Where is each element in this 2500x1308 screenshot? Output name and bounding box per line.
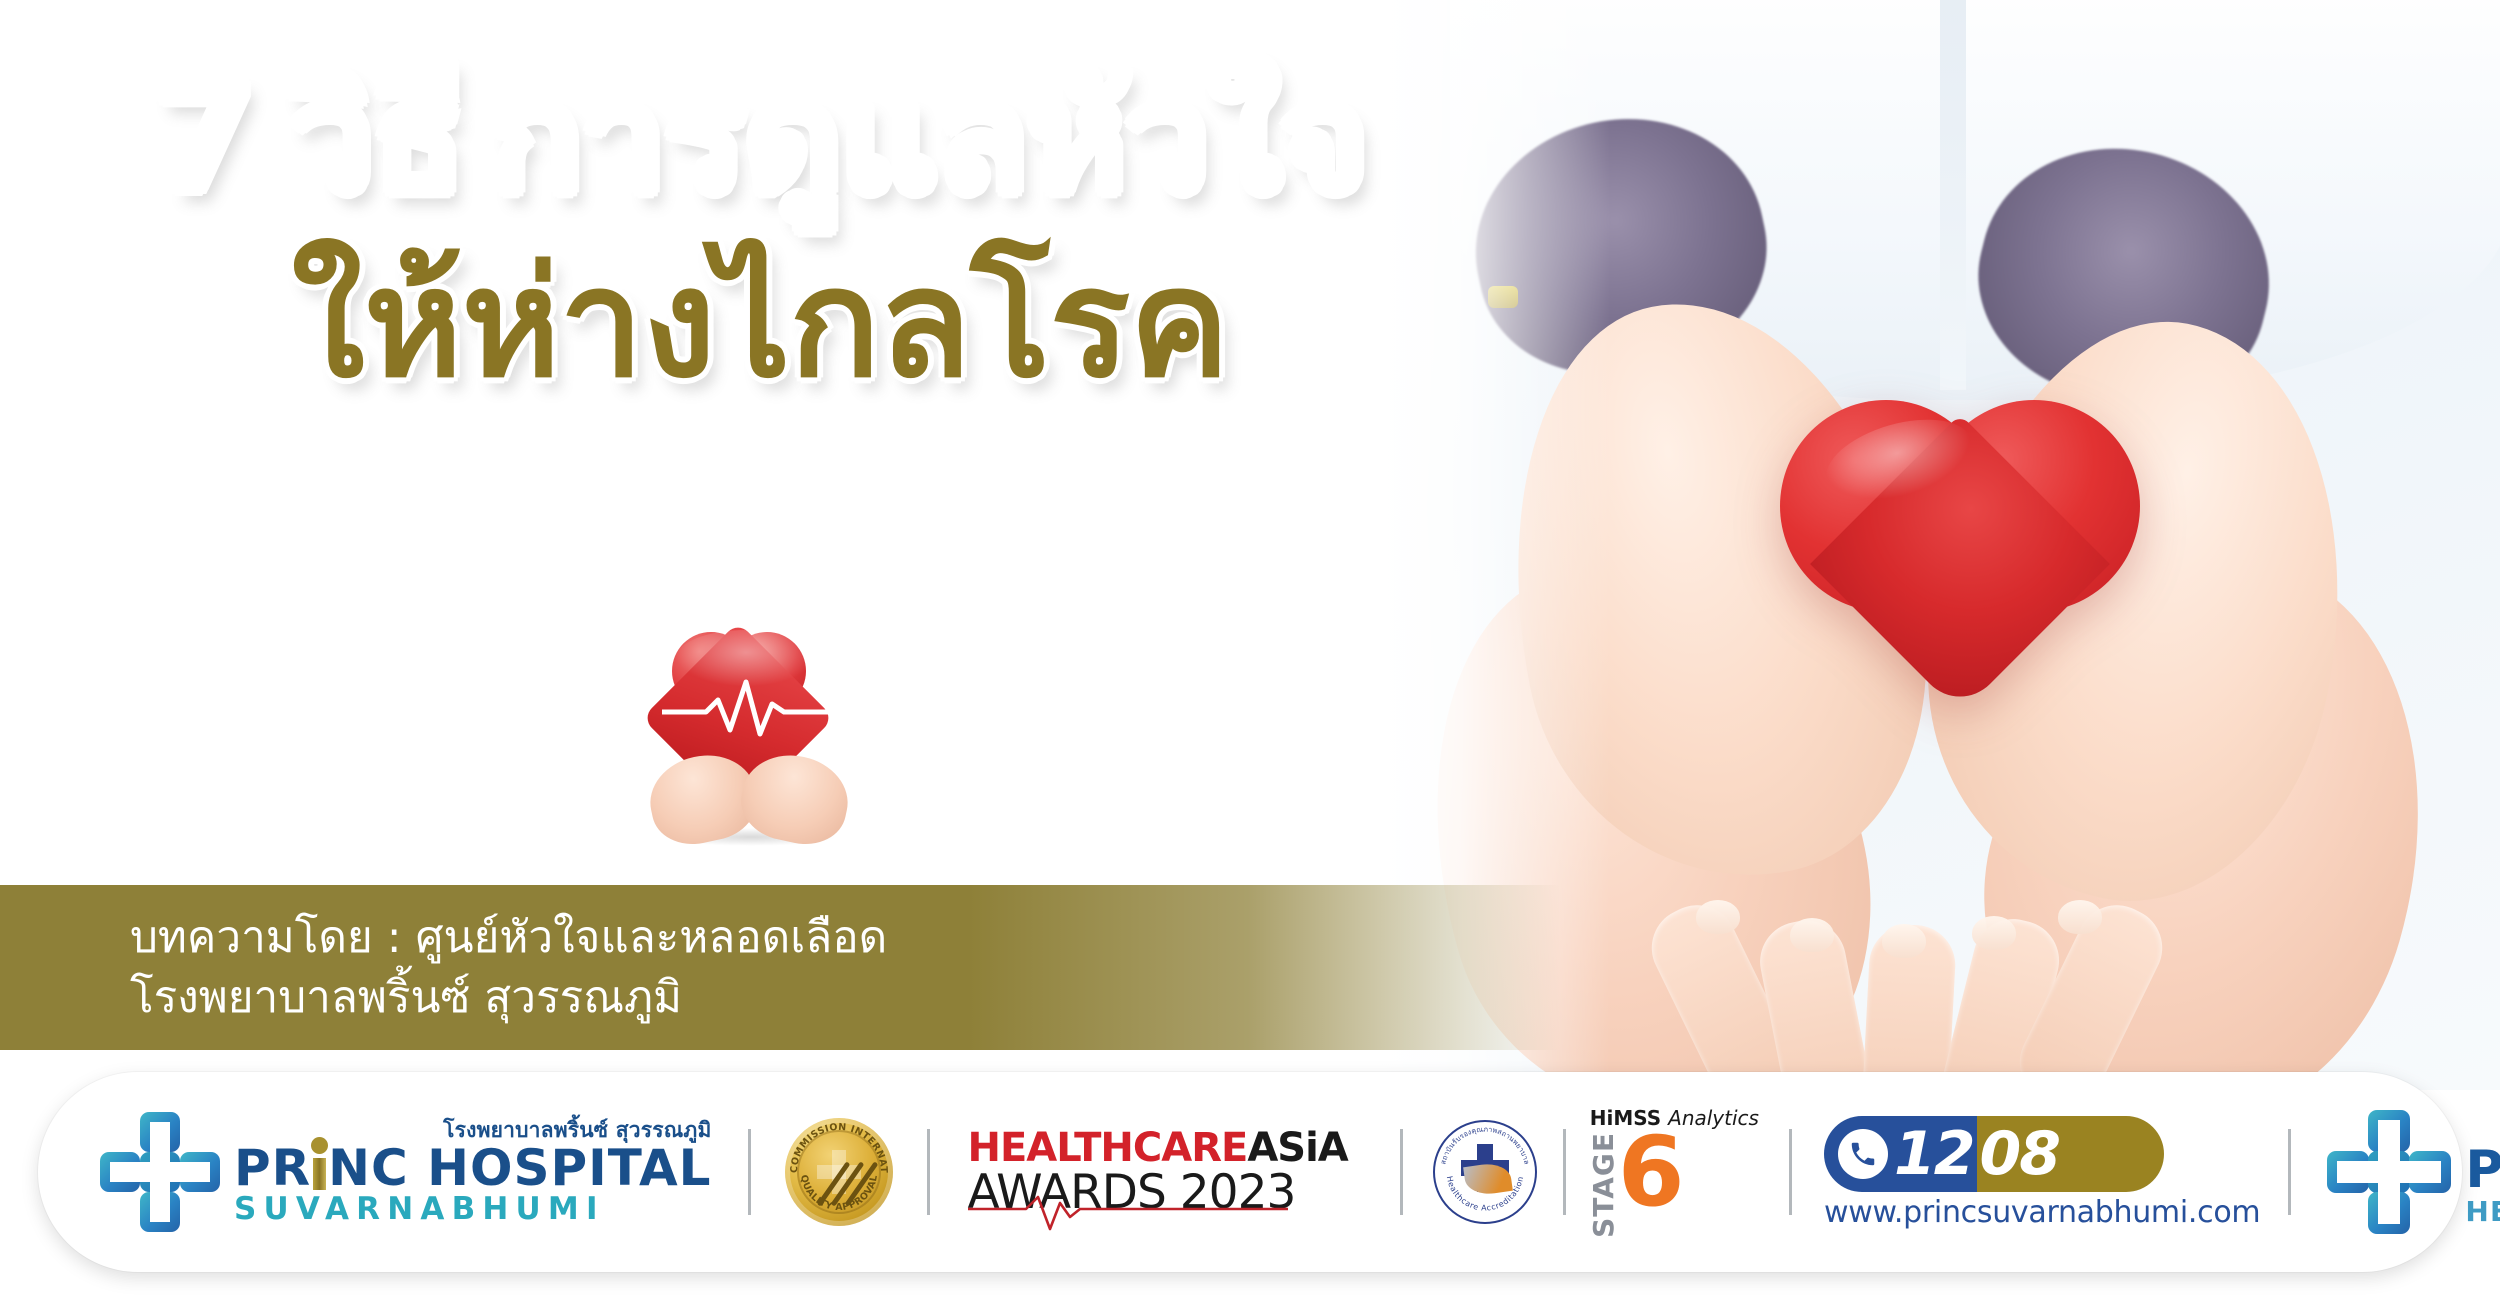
svg-text:Healthcare Accreditation: Healthcare Accreditation — [1444, 1175, 1525, 1212]
footer-logo-bar: โรงพยาบาลพริ้นซ์ สุวรรณภูมิ PRNC HOSPITA… — [38, 1072, 2462, 1272]
hotline-badge[interactable]: 12 08 www.princsuvarnabhumi.com — [1824, 1072, 2260, 1272]
icon-hands — [650, 750, 850, 850]
svg-text:QUALITY APPROVAL: QUALITY APPROVAL — [797, 1174, 879, 1213]
hospital-website-url[interactable]: www.princsuvarnabhumi.com — [1824, 1198, 2260, 1228]
jci-accreditation-seal[interactable]: JOINT COMMISSION INTERNATIONAL QUALITY A… — [785, 1072, 893, 1272]
princ-thai-name: โรงพยาบาลพริ้นซ์ สุวรรณภูมิ — [234, 1120, 712, 1141]
byline-line-2: โรงพยาบาลพริ้นซ์ สุวรรณภูมิ — [130, 968, 1560, 1028]
hotline-right-segment: 08 — [1977, 1116, 2164, 1192]
footer-divider — [927, 1129, 930, 1215]
red-heart-object — [1780, 400, 2140, 730]
coat-seam — [1940, 0, 1966, 390]
fingernail — [1882, 924, 1926, 958]
principal-main-name: PRNCIPAL — [2465, 1144, 2500, 1196]
phone-icon — [1838, 1129, 1888, 1179]
headline-subtitle: ให้ห่างไกลโรค — [291, 237, 1228, 411]
fingernail — [1790, 918, 1834, 952]
healthcare-asia-awards-logo[interactable]: HEALTHCAREASiA AWARDS 2023 — [968, 1072, 1348, 1272]
footer-divider — [2288, 1129, 2291, 1215]
footer-divider — [1400, 1129, 1403, 1215]
himss-stage6-logo[interactable]: HiMSS Analytics STAGE 6 — [1590, 1072, 1759, 1272]
himss-stage-label: STAGE — [1590, 1132, 1618, 1238]
headline-line-1: 7วิธีการดูแลหัวใจ — [0, 60, 1520, 219]
haa-ekg-icon — [968, 1195, 1288, 1235]
hotline-pill: 12 08 www.princsuvarnabhumi.com — [1824, 1116, 2260, 1228]
health-article-banner: 7วิธีการดูแลหัวใจ ให้ห่างไกลโรค บทความโด… — [0, 0, 2500, 1308]
svg-text:JOINT COMMISSION INTERNATIONAL: JOINT COMMISSION INTERNATIONAL — [785, 1118, 889, 1174]
svg-text:สถาบันรับรองคุณภาพสถานพยาบาล: สถาบันรับรองคุณภาพสถานพยาบาล — [1438, 1125, 1531, 1166]
principal-cross-icon — [2327, 1110, 2451, 1234]
principal-thai-name: พริ้นซิเพิล เฮลท์แคร์ — [2465, 1119, 2500, 1141]
hands-holding-heart-icon — [620, 600, 880, 850]
footer-divider — [748, 1129, 751, 1215]
jci-gold-medal-icon: JOINT COMMISSION INTERNATIONAL QUALITY A… — [785, 1118, 893, 1226]
principal-sub-name: HEALTHCARE COMPANY — [2465, 1198, 2500, 1226]
fingernail — [1696, 900, 1740, 934]
princ-cross-icon — [100, 1112, 220, 1232]
byline-bar: บทความโดย : ศูนย์หัวใจและหลอดเลือด โรงพย… — [0, 885, 1560, 1050]
hotline-number-right: 08 — [1979, 1124, 2059, 1184]
princ-i-pillar-icon — [311, 1150, 328, 1190]
hotline-left-segment: 12 — [1824, 1116, 1978, 1192]
himss-stage-row: STAGE 6 — [1590, 1132, 1685, 1238]
footer-divider — [1563, 1129, 1566, 1215]
ekg-line-icon — [662, 678, 838, 742]
footer-divider — [1789, 1129, 1792, 1215]
ha-ring-text: สถาบันรับรองคุณภาพสถานพยาบาล Healthcare … — [1435, 1122, 1535, 1222]
princ-sub-name: SUVARNABHUMI — [234, 1194, 712, 1225]
ha-accreditation-logo[interactable]: สถาบันรับรองคุณภาพสถานพยาบาล Healthcare … — [1433, 1072, 1537, 1272]
fingernail — [2058, 900, 2102, 934]
jci-ring-text: JOINT COMMISSION INTERNATIONAL QUALITY A… — [785, 1118, 893, 1226]
headline-line-2: ให้ห่างไกลโรค — [0, 245, 1520, 404]
haa-top-line: HEALTHCAREASiA — [968, 1128, 1348, 1168]
hotline-number-left: 12 — [1894, 1124, 1974, 1184]
headline-topic: การดูแลหัวใจ — [492, 52, 1368, 226]
princ-wordmark: โรงพยาบาลพริ้นซ์ สุวรรณภูมิ PRNC HOSPITA… — [234, 1120, 712, 1225]
headline-number: 7 — [152, 52, 255, 226]
headline-block: 7วิธีการดูแลหัวใจ ให้ห่างไกลโรค — [0, 60, 1520, 404]
ha-circle-icon: สถาบันรับรองคุณภาพสถานพยาบาล Healthcare … — [1433, 1120, 1537, 1224]
princ-hospital-logo[interactable]: โรงพยาบาลพริ้นซ์ สุวรรณภูมิ PRNC HOSPITA… — [100, 1072, 712, 1272]
himss-stage-number: 6 — [1618, 1132, 1685, 1214]
fingernail — [1972, 916, 2016, 950]
icon-palm-right — [734, 746, 856, 852]
haa-wordmark: HEALTHCAREASiA AWARDS 2023 — [968, 1128, 1348, 1216]
princ-main-name: PRNC HOSPITAL — [234, 1143, 712, 1193]
headline-method-word: วิธี — [290, 52, 464, 226]
byline-line-1: บทความโดย : ศูนย์หัวใจและหลอดเลือด — [130, 908, 1560, 968]
principal-wordmark: พริ้นซิเพิล เฮลท์แคร์ PRNCIPAL HEALTHCAR… — [2465, 1119, 2500, 1226]
principal-healthcare-logo[interactable]: พริ้นซิเพิล เฮลท์แคร์ PRNCIPAL HEALTHCAR… — [2327, 1072, 2500, 1272]
